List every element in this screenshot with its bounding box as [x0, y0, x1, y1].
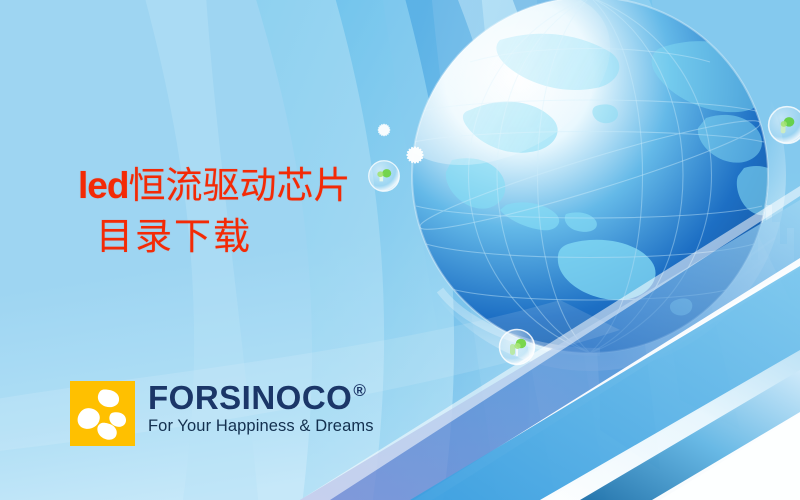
brand-name: FORSINOCO — [148, 381, 352, 415]
bubble-icon — [497, 327, 537, 367]
registered-trademark-icon: ® — [353, 382, 366, 399]
headline-line-1: led恒流驱动芯片 — [78, 160, 350, 211]
headline-latin-word: led — [78, 165, 128, 206]
pinwheel-petals-icon — [70, 381, 135, 446]
brand-tagline: For Your Happiness & Dreams — [148, 417, 374, 436]
flower-sparkle-icon — [400, 140, 430, 170]
flower-sparkle-icon — [372, 118, 396, 142]
headline-line-2: 目录下载 — [78, 211, 350, 262]
brand-wordmark: FORSINOCO® — [148, 381, 374, 415]
bubble-icon — [366, 158, 402, 194]
banner-canvas: led恒流驱动芯片 目录下载 FORSINOCO® For Your Happi… — [0, 0, 800, 500]
headline-cjk-part: 恒流驱动芯片 — [128, 164, 350, 207]
bubble-icon — [766, 104, 800, 146]
headline-text-block: led恒流驱动芯片 目录下载 — [78, 160, 350, 262]
company-logo[interactable]: FORSINOCO® For Your Happiness & Dreams — [70, 381, 374, 446]
